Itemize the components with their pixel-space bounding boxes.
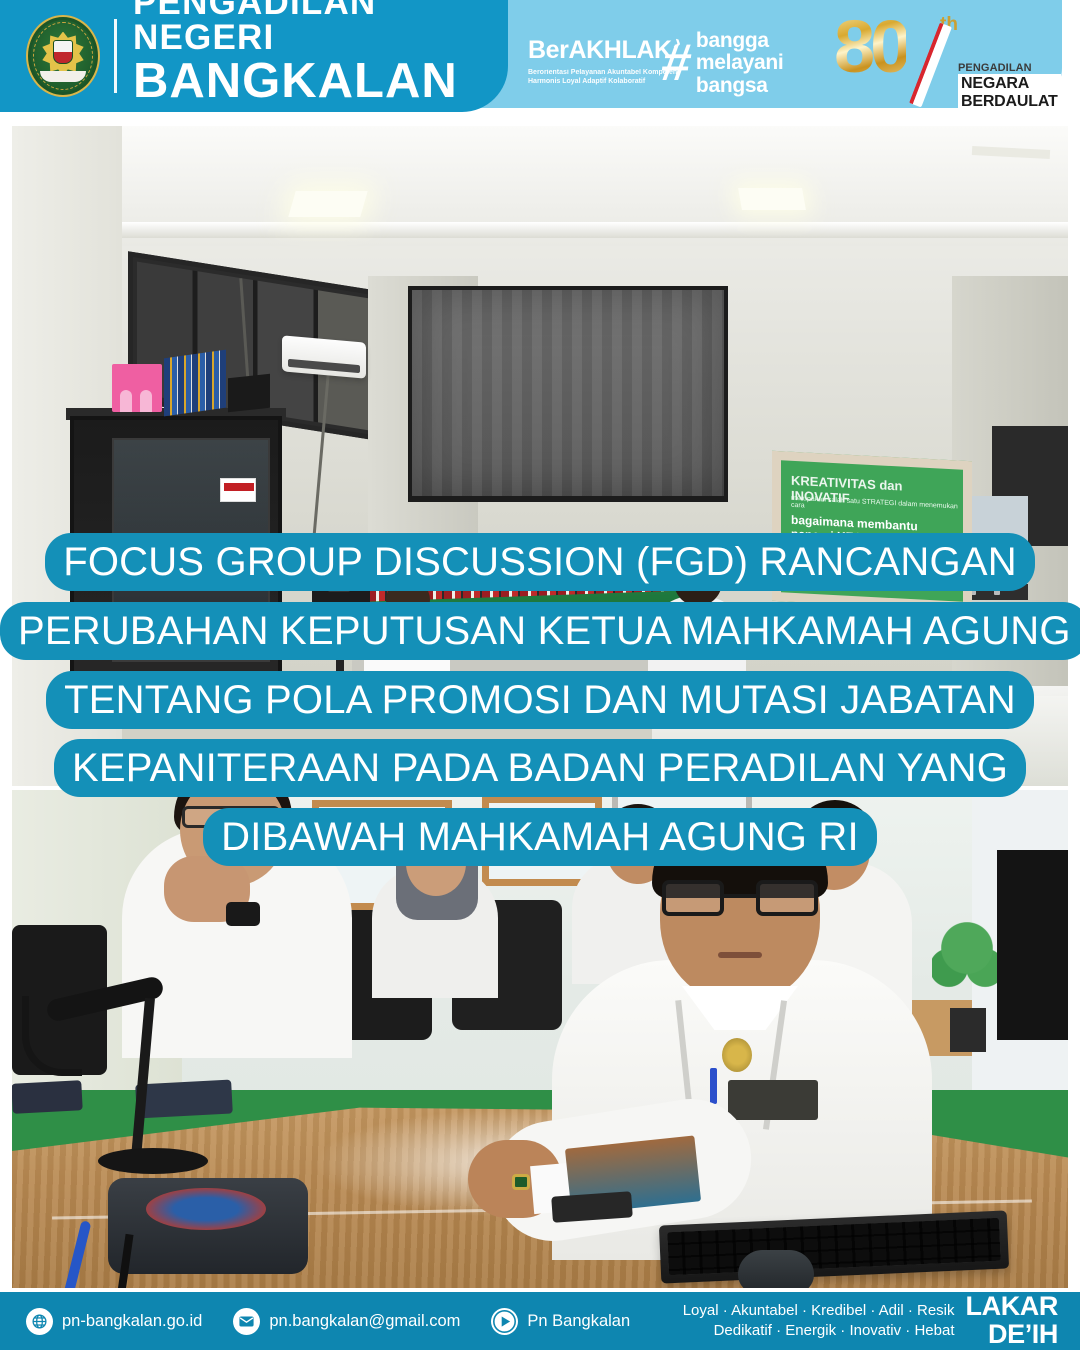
footer-contacts: pn-bangkalan.go.id pn.bangkalan@gmail.co… bbox=[26, 1292, 630, 1350]
institution-line-2: BANGKALAN bbox=[133, 57, 508, 106]
berakhlak-subtitle-line-1: Berorientasi Pelayanan Akuntabel Kompete… bbox=[528, 68, 678, 77]
anniversary-slash-icon bbox=[909, 23, 952, 108]
ceiling-light-icon bbox=[738, 188, 806, 210]
footer-brand-line-1: LAKAR bbox=[966, 1293, 1059, 1321]
footer-branding: Loyal · Akuntabel · Kredibel · Adil · Re… bbox=[683, 1292, 1058, 1350]
bangga-line-2: melayani bbox=[696, 52, 784, 74]
event-title-overlay: FOCUS GROUP DISCUSSION (FGD) RANCANGAN P… bbox=[0, 528, 1080, 872]
envelope-icon bbox=[233, 1308, 260, 1335]
eyeglasses-icon bbox=[662, 880, 818, 916]
berakhlak-logo: BerAKHLAK › Berorientasi Pelayanan Akunt… bbox=[528, 36, 678, 87]
footer-brand-line-2: DE’IH bbox=[966, 1321, 1059, 1349]
event-title: FOCUS GROUP DISCUSSION (FGD) RANCANGAN P… bbox=[0, 533, 1080, 866]
footer-brand: LAKAR DE’IH bbox=[966, 1293, 1059, 1348]
play-icon bbox=[491, 1308, 518, 1335]
page-footer: pn-bangkalan.go.id pn.bangkalan@gmail.co… bbox=[0, 1292, 1080, 1350]
anniversary-caption-big: NEGARA BERDAULAT bbox=[958, 74, 1061, 112]
projector-screen bbox=[412, 290, 724, 496]
court-emblem-icon bbox=[26, 15, 100, 97]
footer-website[interactable]: pn-bangkalan.go.id bbox=[62, 1312, 202, 1331]
header-text-block: PENGADILAN NEGERI BANGKALAN Jl. Soekarno… bbox=[133, 0, 508, 127]
page-header: PENGADILAN NEGERI BANGKALAN Jl. Soekarno… bbox=[0, 0, 1080, 122]
anniversary-number: 80 bbox=[834, 10, 906, 84]
wristwatch-icon bbox=[226, 902, 260, 926]
attendee-figure bbox=[372, 868, 498, 998]
ceiling-light-icon bbox=[288, 191, 367, 217]
smartphone-icon bbox=[551, 1191, 633, 1223]
globe-icon bbox=[26, 1308, 53, 1335]
anniversary-80th-logo: 80 th PENGADILAN BERMARTABAT NEGARA BERD… bbox=[828, 8, 1044, 102]
mouse-icon bbox=[738, 1250, 814, 1288]
pen-icon bbox=[710, 1068, 717, 1104]
bangga-line-3: bangsa bbox=[696, 75, 784, 97]
air-conditioner-icon bbox=[282, 335, 366, 378]
berakhlak-title-text: BerAKHLAK bbox=[528, 36, 672, 64]
footer-email[interactable]: pn.bangkalan@gmail.com bbox=[269, 1312, 460, 1331]
footer-motto: Loyal · Akuntabel · Kredibel · Adil · Re… bbox=[683, 1301, 955, 1341]
conference-speakerphone-icon bbox=[108, 1178, 308, 1274]
berakhlak-title: BerAKHLAK › bbox=[528, 36, 672, 65]
header-divider bbox=[114, 19, 117, 93]
bangga-line-1: bangga bbox=[696, 30, 784, 52]
institution-address: Jl. Soekarno Hatta No. 04,Bangkalan, Jaw… bbox=[133, 111, 508, 128]
footer-motto-line-2: Dedikatif · Energik · Inovativ · Hebat bbox=[683, 1321, 955, 1341]
header-identity: PENGADILAN NEGERI BANGKALAN Jl. Soekarno… bbox=[0, 0, 508, 112]
bangga-lines: bangga melayani bangsa bbox=[696, 30, 784, 97]
footer-motto-line-1: Loyal · Akuntabel · Kredibel · Adil · Re… bbox=[683, 1301, 955, 1321]
television-icon bbox=[997, 850, 1068, 1040]
footer-youtube[interactable]: Pn Bangkalan bbox=[527, 1312, 630, 1331]
ring-icon bbox=[512, 1174, 530, 1190]
uniform-emblem-icon bbox=[722, 1038, 752, 1072]
bangga-melayani-bangsa-logo: # bangga melayani bangsa bbox=[662, 30, 783, 97]
hashtag-icon: # bbox=[659, 41, 694, 86]
institution-line-1: PENGADILAN NEGERI bbox=[133, 0, 508, 55]
berakhlak-subtitle-line-2: Harmonis Loyal Adaptif Kolaboratif bbox=[528, 77, 678, 86]
berakhlak-subtitle: Berorientasi Pelayanan Akuntabel Kompete… bbox=[528, 68, 678, 87]
